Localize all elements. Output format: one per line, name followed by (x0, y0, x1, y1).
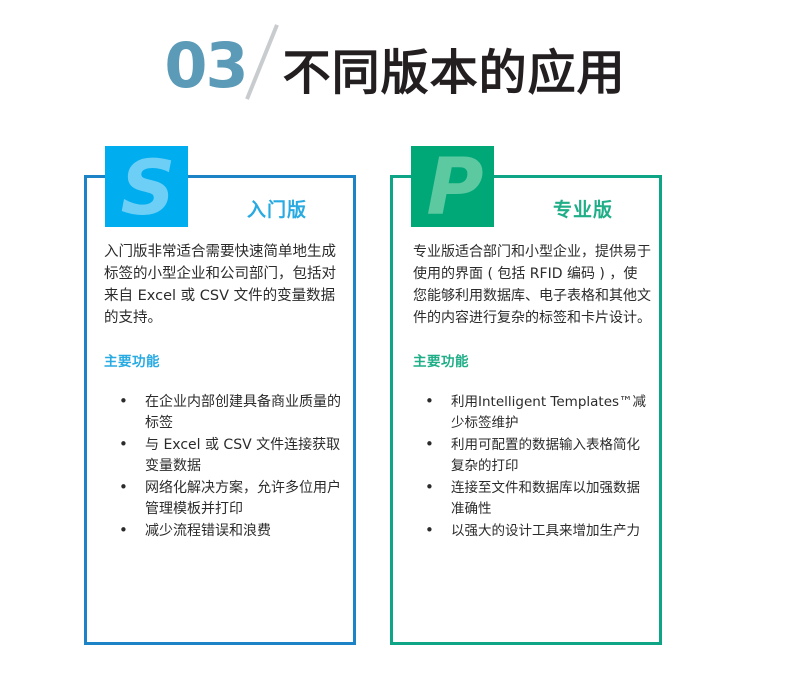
professional-features-label: 主要功能 (413, 350, 651, 370)
starter-description: 入门版非常适合需要快速简单地生成标签的小型企业和公司部门，包括对来自 Excel… (104, 241, 343, 329)
starter-card-title: 入门版 (247, 195, 307, 222)
list-item: 利用可配置的数据输入表格简化复杂的打印 (413, 435, 651, 477)
list-item: 利用Intelligent Templates™减少标签维护 (413, 392, 651, 434)
professional-card-title: 专业版 (553, 195, 613, 222)
diagonal-slash-icon (247, 24, 281, 96)
professional-feature-list: 利用Intelligent Templates™减少标签维护 利用可配置的数据输… (413, 392, 651, 542)
professional-card-body: 专业版适合部门和小型企业，提供易于使用的界面 ( 包括 RFID 编码 ) ，使… (413, 241, 651, 543)
list-item: 减少流程错误和浪费 (104, 521, 343, 542)
list-item: 与 Excel 或 CSV 文件连接获取变量数据 (104, 435, 343, 477)
starter-features-label: 主要功能 (104, 350, 343, 370)
starter-card-body: 入门版非常适合需要快速简单地生成标签的小型企业和公司部门，包括对来自 Excel… (104, 241, 343, 543)
list-item: 在企业内部创建具备商业质量的标签 (104, 392, 343, 434)
professional-badge-icon: P (411, 146, 494, 227)
page-title: 不同版本的应用 (283, 48, 626, 98)
list-item: 连接至文件和数据库以加强数据准确性 (413, 478, 651, 520)
professional-description: 专业版适合部门和小型企业，提供易于使用的界面 ( 包括 RFID 编码 ) ，使… (413, 241, 651, 329)
svg-text:S: S (121, 146, 176, 227)
starter-badge-icon: S (105, 146, 188, 227)
list-item: 网络化解决方案，允许多位用户管理模板并打印 (104, 478, 343, 520)
svg-text:P: P (426, 146, 483, 227)
edition-card-starter[interactable]: S 入门版 入门版非常适合需要快速简单地生成标签的小型企业和公司部门，包括对来自… (84, 175, 356, 645)
list-item: 以强大的设计工具来增加生产力 (413, 521, 651, 542)
page-header: 03 不同版本的应用 (0, 26, 790, 96)
starter-feature-list: 在企业内部创建具备商业质量的标签 与 Excel 或 CSV 文件连接获取变量数… (104, 392, 343, 542)
edition-card-professional[interactable]: P 专业版 专业版适合部门和小型企业，提供易于使用的界面 ( 包括 RFID 编… (390, 175, 662, 645)
section-number: 03 (164, 35, 246, 97)
